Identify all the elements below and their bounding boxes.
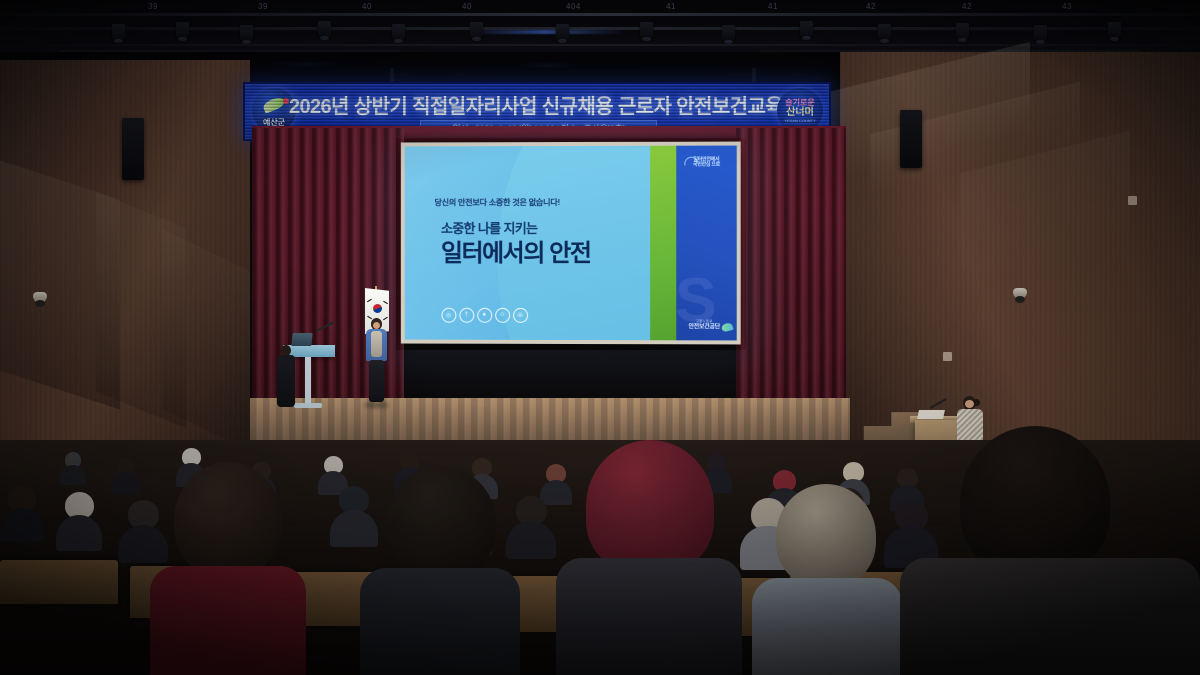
stage-spotlight xyxy=(556,24,569,41)
kosha-logo-name: 안전보건공단 xyxy=(688,324,720,330)
stage-spotlight xyxy=(470,22,483,39)
wall-socket xyxy=(1128,196,1137,205)
stage-spotlight xyxy=(392,24,405,41)
emblem-leaf-shape xyxy=(262,95,287,113)
truss-number: 41 xyxy=(666,2,676,11)
wall-socket xyxy=(943,352,952,361)
stage-spotlight xyxy=(878,24,891,41)
seated-staff-member xyxy=(276,345,296,407)
presentation-slide: S 당신의 안전보다 소중한 것은 없습니다! 소중한 나를 지키는 일터에서의… xyxy=(405,146,737,341)
audience-member xyxy=(112,458,140,490)
slogan-line-1: 슬기로운 xyxy=(785,99,814,107)
audience-member-foreground xyxy=(150,462,306,675)
audience-member xyxy=(0,486,44,538)
hair-bun xyxy=(973,399,980,406)
shoulders xyxy=(360,568,520,675)
audience-member-foreground-red-beanie xyxy=(556,440,742,675)
legs xyxy=(369,360,384,402)
shoulders xyxy=(900,558,1200,675)
beanie-hat xyxy=(586,440,714,572)
stage-spotlight xyxy=(240,25,253,42)
audience-member-foreground xyxy=(752,484,902,675)
slogan-line-2: 산너머 xyxy=(786,108,814,118)
shoulders xyxy=(56,515,102,551)
stage-table-leg xyxy=(305,357,311,405)
face xyxy=(373,322,380,329)
banner-mount xyxy=(390,68,394,82)
head xyxy=(960,426,1110,578)
shoulders xyxy=(752,578,902,675)
ministry-logo: 일터안전에서 국민안심 으로 xyxy=(693,157,720,168)
kosha-logo: 고용노동부 안전보건공단 xyxy=(688,321,720,331)
mask-icon: ☺ xyxy=(495,307,510,322)
truss-number: 404 xyxy=(566,2,581,11)
floor-shadow xyxy=(364,402,389,408)
stage-spotlight xyxy=(640,22,653,39)
stage-curtain-right xyxy=(736,128,846,428)
head xyxy=(174,462,282,578)
truss-number: 40 xyxy=(462,2,472,11)
stage-spotlight xyxy=(112,24,125,41)
projection-screen: S 당신의 안전보다 소중한 것은 없습니다! 소중한 나를 지키는 일터에서의… xyxy=(401,142,741,345)
vest xyxy=(371,331,382,357)
slide-headline: 일터에서의 안전 xyxy=(441,233,591,268)
stage-table-base xyxy=(294,403,322,408)
shoulders xyxy=(0,508,44,542)
truss-number: 42 xyxy=(962,2,972,11)
stage-spotlight xyxy=(1108,22,1121,39)
truss-number: 40 xyxy=(362,2,372,11)
audience-member xyxy=(318,456,348,490)
shoulders xyxy=(150,566,306,675)
slide-pictogram-row: ◎ † ♠ ☺ ☏ xyxy=(441,307,528,322)
truss-number: 39 xyxy=(258,2,268,11)
face xyxy=(965,400,974,408)
audience-member-foreground xyxy=(360,466,520,675)
glove-icon: ♠ xyxy=(477,307,492,322)
audience-member xyxy=(60,452,86,482)
stage-spotlight xyxy=(1034,25,1047,42)
ceiling-truss-beam xyxy=(0,13,1200,16)
boot-icon: ☏ xyxy=(513,307,528,322)
helmet-icon: ◎ xyxy=(441,307,456,322)
stage-spotlight xyxy=(722,25,735,42)
head xyxy=(386,466,496,580)
wall-speaker xyxy=(900,110,922,168)
audience-member xyxy=(56,492,102,546)
truss-number: 41 xyxy=(768,2,778,11)
slide-kicker-text: 당신의 안전보다 소중한 것은 없습니다! xyxy=(434,196,560,208)
head xyxy=(776,484,876,588)
shoulders xyxy=(556,558,742,675)
truss-number: 43 xyxy=(1062,2,1072,11)
stage-spotlight xyxy=(318,21,331,38)
shoulders xyxy=(60,465,86,485)
truss-number: 39 xyxy=(148,2,158,11)
wall-speaker xyxy=(122,118,144,180)
podium-papers xyxy=(917,410,945,419)
taeguk-symbol-icon xyxy=(373,304,382,313)
ceiling-light-strip xyxy=(470,30,620,34)
person-icon: † xyxy=(459,307,474,322)
stage-spotlight xyxy=(956,23,969,40)
auditorium-photo: 39 39 40 40 404 41 41 42 42 43 xyxy=(0,0,1200,675)
banner-title: 2026년 상반기 직접일자리사업 신규채용 근로자 안전보건교육 xyxy=(301,89,771,119)
banner-mount xyxy=(752,68,756,82)
truss-number: 42 xyxy=(866,2,876,11)
audience-member-foreground-right xyxy=(900,426,1200,675)
stage-spotlight xyxy=(800,21,813,38)
slogan-line-3: YESAN COUNTY xyxy=(784,119,816,123)
body xyxy=(277,355,295,407)
stage-spotlight xyxy=(176,22,189,39)
presenter-on-stage xyxy=(362,318,390,410)
shoulders xyxy=(112,472,140,494)
seat-back[interactable] xyxy=(0,560,118,604)
